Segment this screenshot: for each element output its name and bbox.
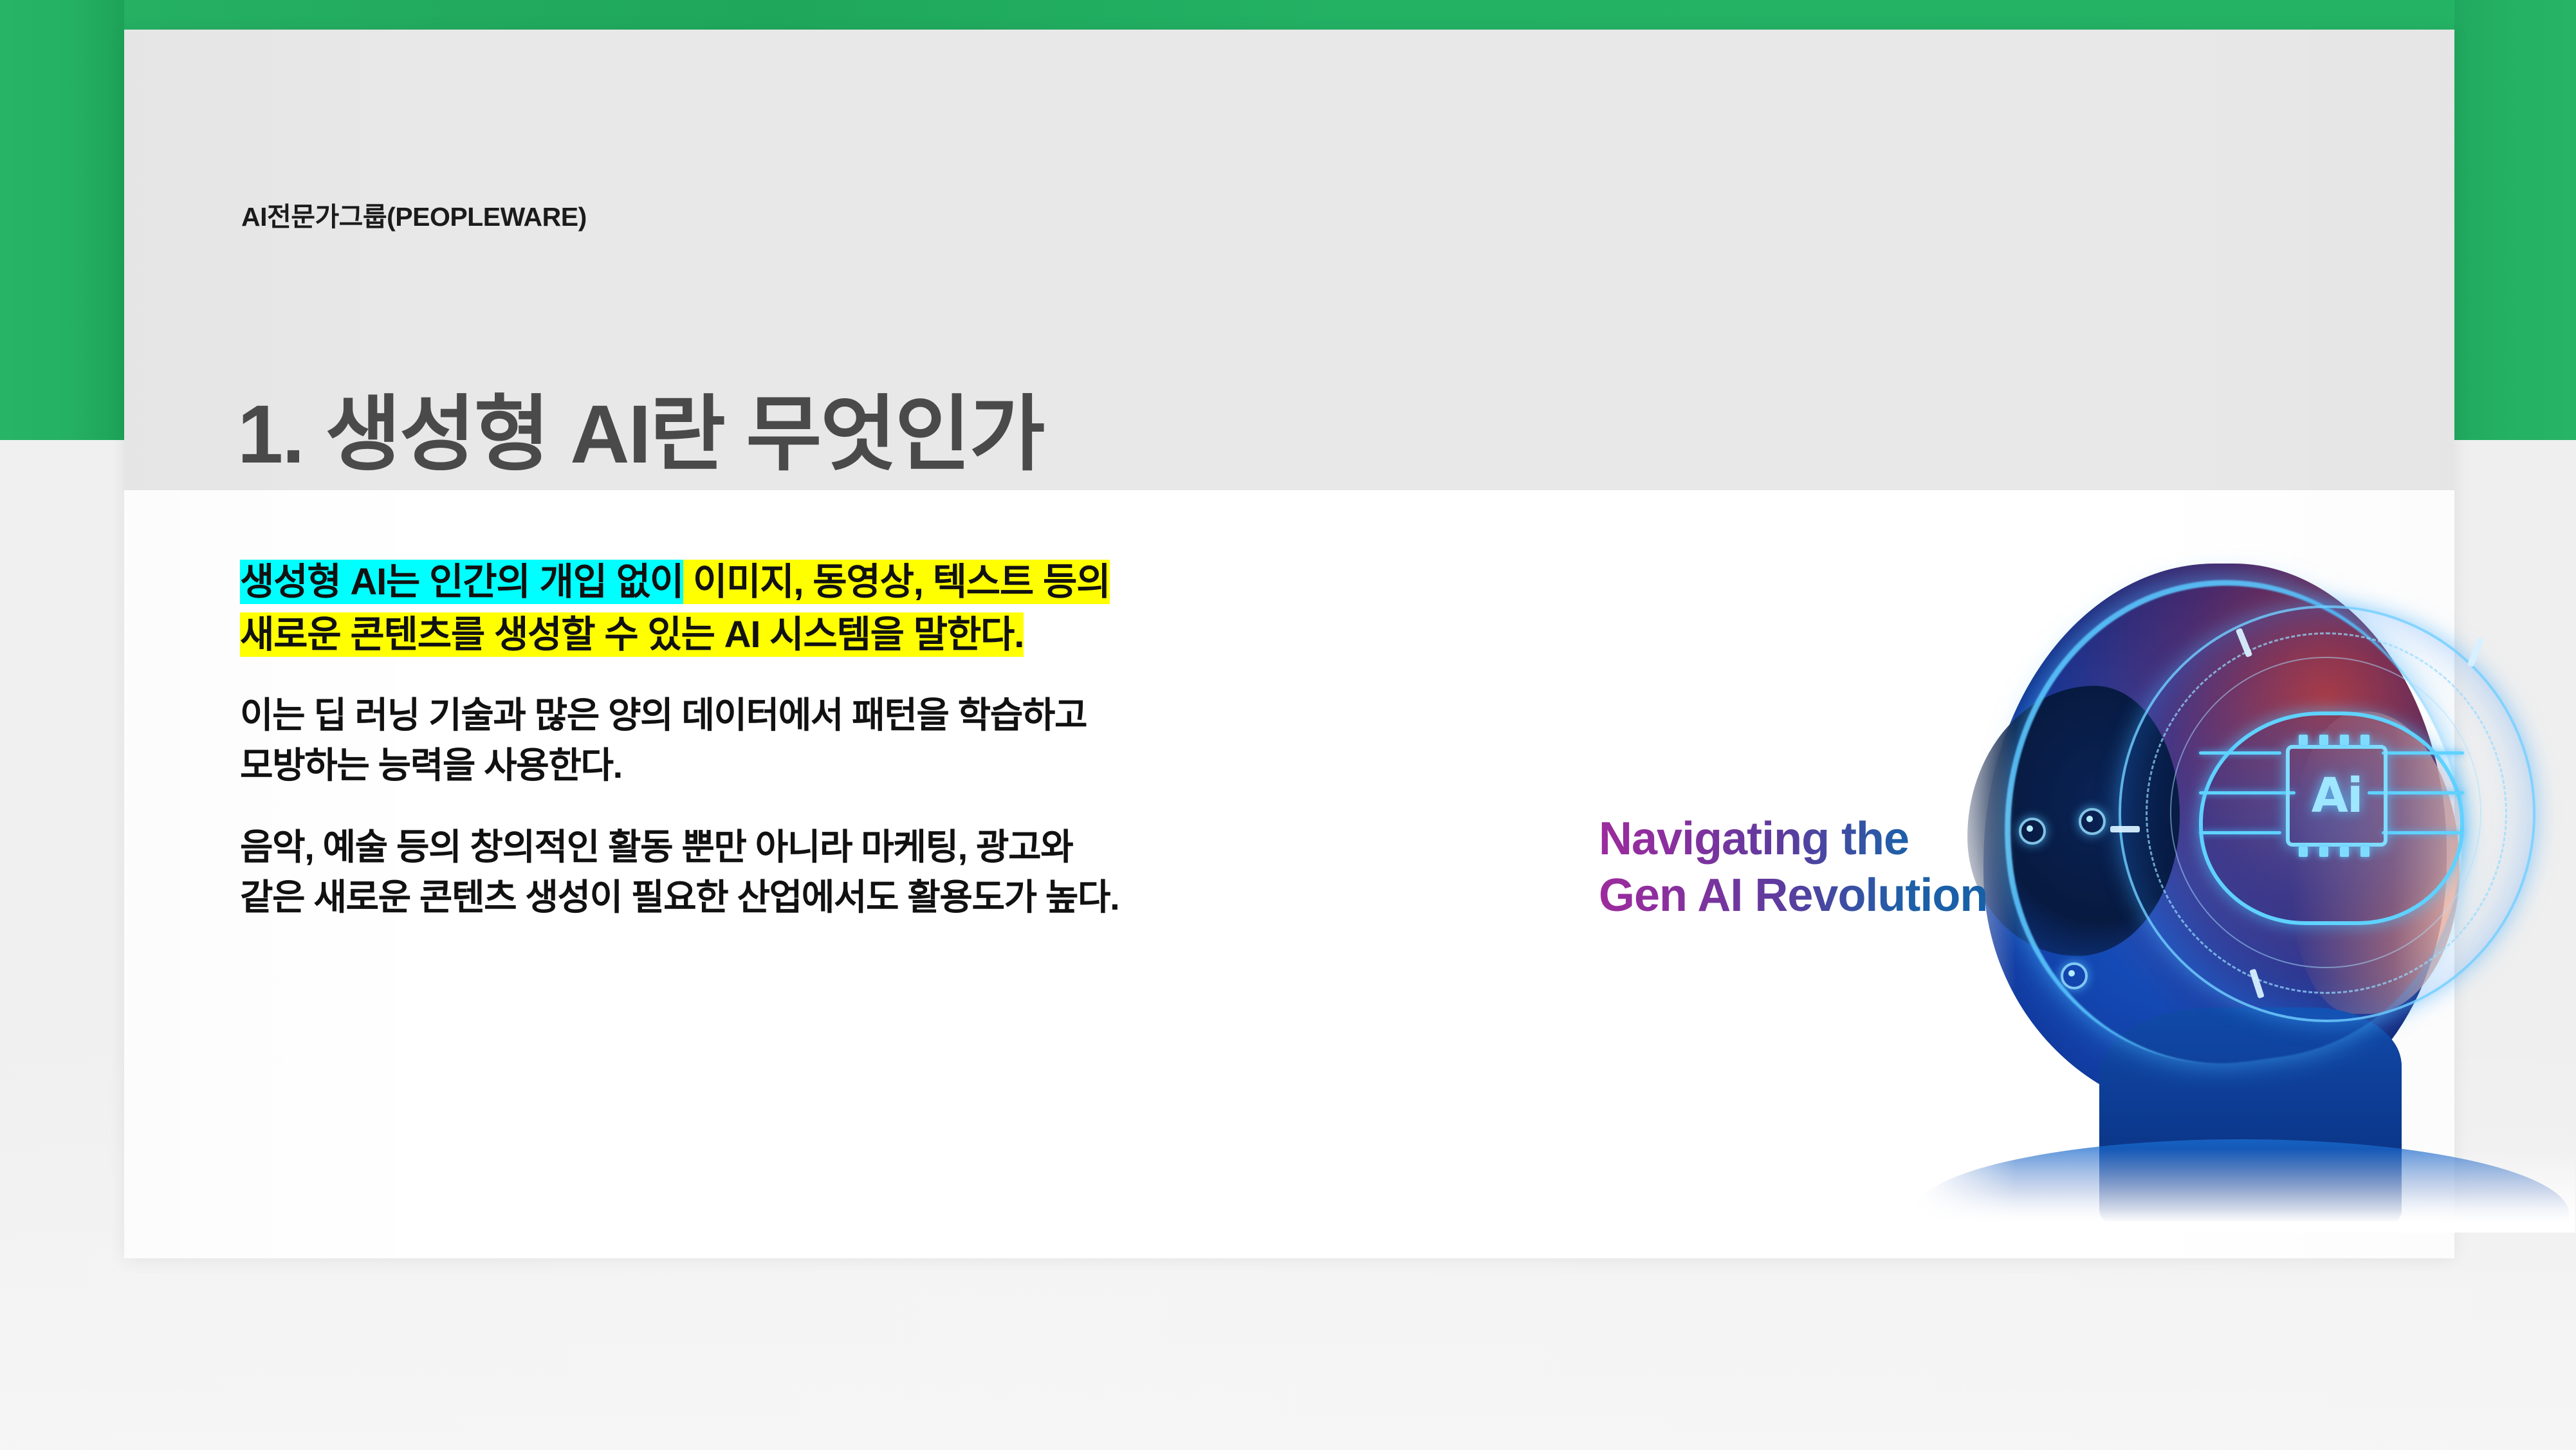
chip-pin [2360,735,2369,745]
ai-chip-icon: Ai [2286,745,2387,847]
hud-node-icon [2019,818,2046,845]
slide-kicker: AI전문가그룹(PEOPLEWARE) [241,195,587,234]
hud-tick-icon [2110,826,2140,832]
brain-circuit-line [2199,831,2281,834]
slide-root: AI전문가그룹(PEOPLEWARE) 1. 생성형 AI란 무엇인가 생성형 … [0,0,2576,1450]
hud-node-icon [2079,808,2106,835]
ai-head-illustration: Ai [1906,519,2575,1233]
highlight-cyan-span: 생성형 AI는 인간의 개입 없이 [240,560,683,604]
text-line: 같은 새로운 콘텐츠 생성이 필요한 산업에서도 활용도가 높다. [240,872,1720,922]
highlight-yellow-span: 이미지, 동영상, 텍스트 등의 [683,560,1110,604]
text-line: 음악, 예술 등의 창의적인 활동 뿐만 아니라 마케팅, 광고와 [240,822,1720,872]
text-line: 생성형 AI는 인간의 개입 없이 이미지, 동영상, 텍스트 등의 [240,556,1720,609]
artwork-bottom-fade [1906,1149,2575,1233]
brain-circuit-line [2199,751,2281,755]
brain-circuit-line [2199,791,2295,794]
paragraph-lead: 생성형 AI는 인간의 개입 없이 이미지, 동영상, 텍스트 등의 새로운 콘… [240,556,1720,662]
chip-pin [2319,735,2328,745]
chip-pin [2299,847,2308,857]
slide-card: AI전문가그룹(PEOPLEWARE) 1. 생성형 AI란 무엇인가 생성형 … [124,30,2454,1258]
brain-circuit-line [2382,751,2464,755]
accent-band-left [0,0,124,440]
hero-tagline: Navigating the Gen AI Revolution [1599,811,1987,924]
chip-pin [2340,847,2349,857]
accent-band-right [2454,0,2576,440]
hud-node-icon [2061,962,2088,989]
text-line: 이는 딥 러닝 기술과 많은 양의 데이터에서 패턴을 학습하고 [240,690,1720,740]
hero-artwork: Ai Navigating the Gen AI [1572,519,2575,1233]
chip-pin [2340,735,2349,745]
chip-pin [2360,847,2369,857]
body-text-block: 생성형 AI는 인간의 개입 없이 이미지, 동영상, 텍스트 등의 새로운 콘… [240,556,1720,953]
paragraph-two: 이는 딥 러닝 기술과 많은 양의 데이터에서 패턴을 학습하고 모방하는 능력… [240,690,1720,791]
ai-chip-label: Ai [2312,772,2362,820]
text-line: 새로운 콘텐츠를 생성할 수 있는 AI 시스템을 말한다. [240,609,1720,661]
hero-tagline-line2: Gen AI Revolution [1599,868,1987,924]
paragraph-three: 음악, 예술 등의 창의적인 활동 뿐만 아니라 마케팅, 광고와 같은 새로운… [240,822,1720,923]
chip-pin [2299,735,2308,745]
accent-band-top [0,0,2576,30]
hud-tick-icon [2467,638,2485,667]
page-title: 1. 생성형 AI란 무엇인가 [237,394,1044,476]
text-line: 모방하는 능력을 사용한다. [240,740,1720,791]
brain-circuit-line [2382,831,2464,834]
highlight-yellow-span: 새로운 콘텐츠를 생성할 수 있는 AI 시스템을 말한다. [240,612,1024,657]
chip-pin [2319,847,2328,857]
hero-tagline-line1: Navigating the [1599,811,1987,868]
